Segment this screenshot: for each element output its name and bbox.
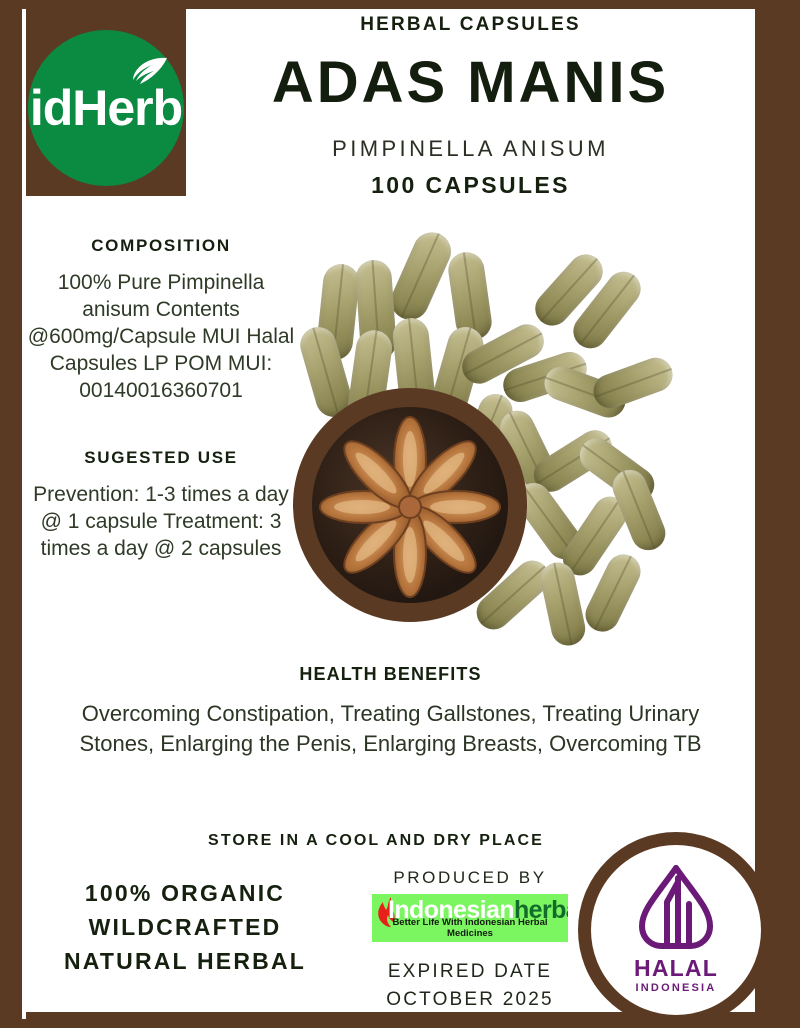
- indonesian-herbal-logo: Indonesianherbal Better Life With Indone…: [372, 894, 568, 942]
- composition-body: 100% Pure Pimpinella anisum Contents @60…: [26, 270, 296, 404]
- header-kicker: HERBAL CAPSULES: [186, 14, 755, 36]
- page-title: ADAS MANIS: [186, 54, 755, 112]
- label-header: HERBAL CAPSULES ADAS MANIS PIMPINELLA AN…: [186, 14, 755, 199]
- info-column: COMPOSITION 100% Pure Pimpinella anisum …: [26, 236, 296, 563]
- latin-name: PIMPINELLA ANISUM: [186, 136, 755, 162]
- producer-tagline: Better Life With Indonesian Herbal Medic…: [372, 917, 568, 939]
- star-anise-image: [312, 407, 508, 603]
- health-benefits-body: Overcoming Constipation, Treating Gallst…: [26, 699, 755, 760]
- idherb-logo-text: idHerb: [30, 83, 182, 133]
- frame-right-border: [754, 0, 800, 1028]
- idherb-logo: idHerb: [28, 30, 184, 186]
- frame-top-border: [0, 0, 800, 9]
- product-label: idHerb HERBAL CAPSULES ADAS MANIS PIMPIN…: [0, 0, 800, 1028]
- produced-by-label: PRODUCED BY: [352, 868, 588, 888]
- leaf-icon: [124, 57, 168, 89]
- expiry-value: OCTOBER 2025: [352, 986, 588, 1014]
- health-benefits-heading: HEALTH BENEFITS: [26, 664, 755, 685]
- halal-label: HALAL: [634, 957, 718, 980]
- halal-gunungan-icon: [634, 862, 718, 954]
- halal-country: INDONESIA: [636, 983, 717, 994]
- product-claims: 100% ORGANIC WILDCRAFTED NATURAL HERBAL: [40, 876, 330, 978]
- composition-heading: COMPOSITION: [26, 236, 296, 256]
- suggested-use-heading: SUGESTED USE: [26, 448, 296, 468]
- star-anise-illustration: [312, 407, 508, 603]
- producer-section: PRODUCED BY Indonesianherbal Better Life…: [352, 868, 588, 1013]
- star-anise-photo: [293, 388, 527, 622]
- halal-badge: HALAL INDONESIA: [578, 832, 774, 1028]
- expiry-label: EXPIRED DATE: [352, 958, 588, 986]
- expiry-block: EXPIRED DATE OCTOBER 2025: [352, 958, 588, 1013]
- capsule-count: 100 CAPSULES: [186, 172, 755, 199]
- logo-text-prefix: id: [30, 80, 72, 136]
- health-benefits-section: HEALTH BENEFITS Overcoming Constipation,…: [26, 664, 755, 760]
- suggested-use-body: Prevention: 1-3 times a day @ 1 capsule …: [26, 482, 296, 563]
